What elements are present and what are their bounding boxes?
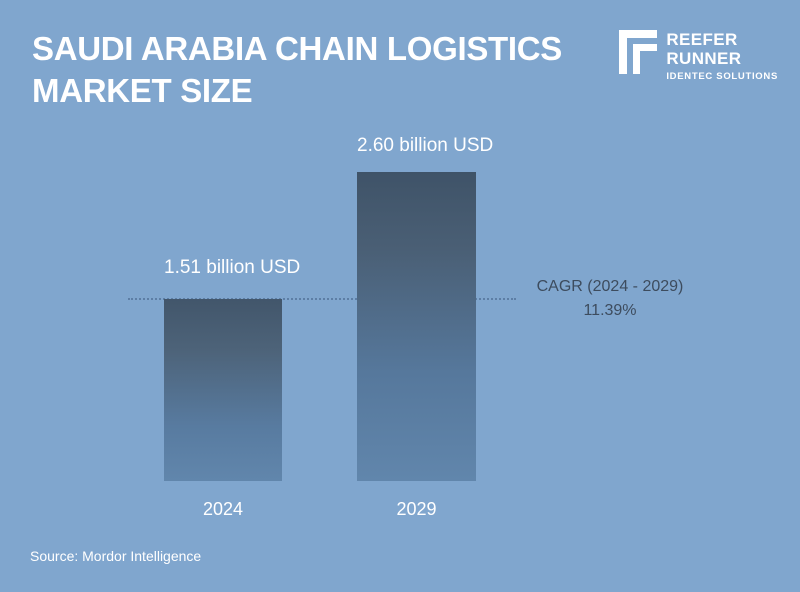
cagr-annotation: CAGR (2024 - 2029) 11.39% [520,275,700,323]
bar-2024 [164,299,282,481]
cagr-value: 11.39% [520,299,700,323]
value-label-2024: 1.51 billion USD [164,256,282,280]
chart-canvas: SAUDI ARABIA CHAIN LOGISTICS MARKET SIZE… [0,0,800,592]
source-note: Source: Mordor Intelligence [30,547,201,565]
bar-2029 [357,172,476,481]
cagr-label: CAGR (2024 - 2029) [520,275,700,299]
category-label-2029: 2029 [357,498,476,520]
value-label-2029: 2.60 billion USD [357,134,476,158]
bar-chart-plot-area: 1.51 billion USD 2.60 billion USD 2024 2… [0,0,800,592]
category-label-2024: 2024 [164,498,282,520]
